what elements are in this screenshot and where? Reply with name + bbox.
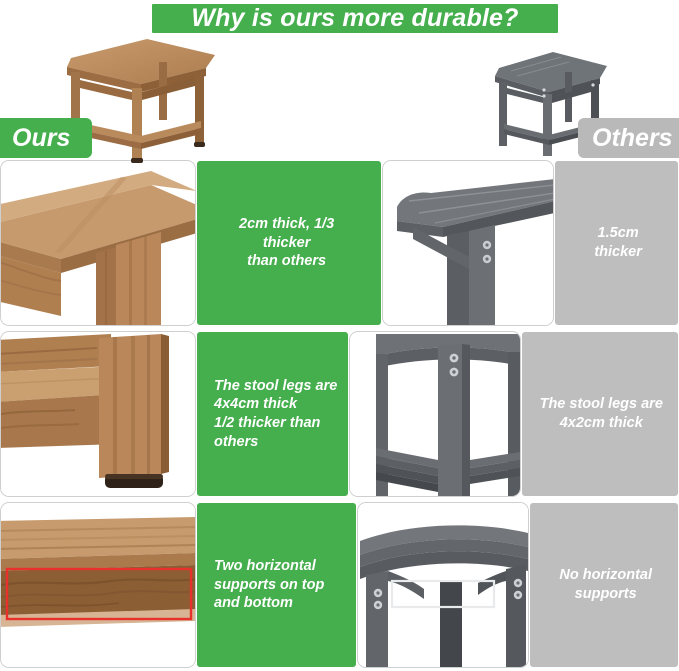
comparison-grid: 2cm thick, 1/3 thicker than others xyxy=(0,160,679,671)
row-text-others-label: No horizontal supports xyxy=(547,566,670,603)
row-text-ours-label: The stool legs are 4x4cm thick 1/2 thick… xyxy=(214,377,337,451)
row-photo-others xyxy=(357,502,529,668)
grey-leg-photo xyxy=(350,332,521,496)
row-photo-ours xyxy=(0,502,196,668)
row-photo-ours xyxy=(0,331,196,497)
row-text-others: No horizontal supports xyxy=(529,502,679,668)
row-text-others: The stool legs are 4x2cm thick xyxy=(521,331,679,497)
page-title: Why is ours more durable? xyxy=(191,4,518,33)
comparison-row: Two horizontal supports on top and botto… xyxy=(0,502,679,668)
row-photo-ours xyxy=(0,160,196,326)
row-text-others-label: The stool legs are 4x2cm thick xyxy=(539,395,671,432)
row-text-ours: Two horizontal supports on top and botto… xyxy=(196,502,357,668)
label-others: Others xyxy=(578,118,679,158)
page-title-banner: Why is ours more durable? xyxy=(150,2,560,35)
grey-tabletop-corner-photo xyxy=(383,161,554,325)
row-text-ours-label: Two horizontal supports on top and botto… xyxy=(214,557,324,613)
grey-no-support-photo xyxy=(358,503,529,668)
comparison-row: 2cm thick, 1/3 thicker than others xyxy=(0,160,679,326)
row-photo-others xyxy=(382,160,554,326)
row-text-ours-label: 2cm thick, 1/3 thicker than others xyxy=(214,215,373,271)
wood-tabletop-corner-photo xyxy=(1,161,196,325)
wood-horizontal-support-photo xyxy=(1,503,196,668)
row-text-others: 1.5cm thicker xyxy=(554,160,679,326)
label-ours-text: Ours xyxy=(12,124,70,153)
row-photo-others xyxy=(349,331,521,497)
label-others-text: Others xyxy=(592,124,673,153)
comparison-row: The stool legs are 4x4cm thick 1/2 thick… xyxy=(0,331,679,497)
row-text-others-label: 1.5cm thicker xyxy=(572,224,670,261)
row-text-ours: 2cm thick, 1/3 thicker than others xyxy=(196,160,382,326)
wood-leg-photo xyxy=(1,332,196,496)
infographic-page: Why is ours more durable? xyxy=(0,0,679,671)
row-text-ours: The stool legs are 4x4cm thick 1/2 thick… xyxy=(196,331,349,497)
label-ours: Ours xyxy=(0,118,92,158)
